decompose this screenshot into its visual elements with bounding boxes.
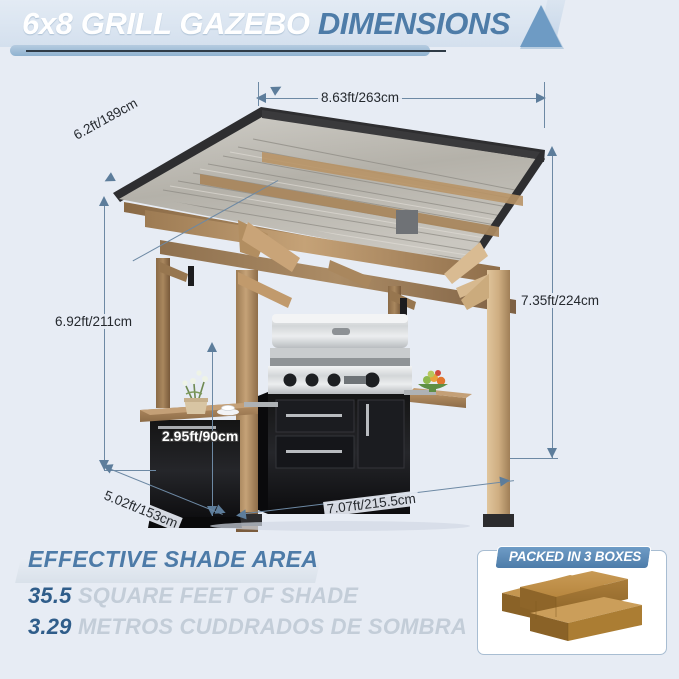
dim-height-right-arrow-bottom: [547, 448, 557, 458]
grill-knob-1[interactable]: [284, 374, 297, 387]
post-back-left: [156, 258, 170, 408]
dim-height-right-arrow-top: [547, 146, 557, 156]
dimension-infographic: 6x8 GRILL GAZEBO DIMENSIONS: [0, 0, 679, 679]
shade-unit-metric: METROS CUDDRADOS DE SOMBRA: [78, 614, 467, 639]
grill-gap: [270, 358, 410, 366]
roof-bracket-plate: [396, 210, 418, 234]
header-triangle-accent: [520, 5, 562, 47]
dim-counter-height-label: 2.95ft/90cm: [162, 429, 238, 444]
title-product: 6x8 GRILL GAZEBO: [22, 6, 310, 41]
counter-rail-left: [244, 402, 278, 407]
dim-roof-width-tick-right: [544, 82, 545, 128]
fruit-bowl: [418, 370, 448, 392]
shade-row-imperial: 35.5 SQUARE FEET OF SHADE: [28, 583, 358, 609]
title-dimensions: DIMENSIONS: [318, 6, 510, 41]
dim-height-left-arrow-top: [99, 196, 109, 206]
grill-island-side: [258, 392, 268, 514]
packed-badge-label: PACKED IN 3 BOXES: [500, 547, 650, 567]
drawer-handle-bottom: [286, 450, 342, 453]
bracket-hardware-left: [188, 266, 194, 286]
gazebo-drawing: 8.63ft/263cm 6.2ft/189cm 7.35ft/224cm 6.…: [0, 62, 679, 532]
header-banner: 6x8 GRILL GAZEBO DIMENSIONS: [0, 0, 679, 62]
cabinet-door-right: [358, 400, 404, 468]
grill-knob-4[interactable]: [365, 373, 380, 388]
shade-title: EFFECTIVE SHADE AREA: [28, 546, 318, 573]
floor-shadow: [210, 521, 470, 531]
header-rule-line: [26, 50, 446, 52]
door-handle-right: [366, 404, 369, 436]
post-front-right-foot: [483, 514, 514, 527]
dim-height-left-label: 6.92ft/211cm: [52, 314, 135, 329]
grill-hood-lip: [270, 348, 410, 358]
dim-base-width-arrow-right: [499, 475, 510, 486]
dim-height-left-line: [104, 198, 105, 470]
dim-roof-width-label: 8.63ft/263cm: [318, 90, 402, 105]
grill-hood-highlight: [272, 314, 408, 323]
page-title: 6x8 GRILL GAZEBO DIMENSIONS: [22, 6, 510, 42]
grill-brand-plate: [344, 376, 366, 384]
dim-roof-width-tick-left: [258, 82, 259, 106]
dim-height-right-tick-bottom: [510, 458, 558, 459]
shade-value-imperial: 35.5: [28, 583, 72, 608]
grill-knob-2[interactable]: [306, 374, 319, 387]
dim-base-width-arrow-left: [235, 509, 246, 520]
shade-value-metric: 3.29: [28, 614, 72, 639]
shade-unit-imperial: SQUARE FEET OF SHADE: [78, 583, 358, 608]
grill-hood-badge: [332, 328, 350, 335]
footer-section: EFFECTIVE SHADE AREA 35.5 SQUARE FEET OF…: [0, 536, 679, 679]
grill-knob-3[interactable]: [328, 374, 341, 387]
shade-row-metric: 3.29 METROS CUDDRADOS DE SOMBRA: [28, 614, 467, 640]
dim-height-right-label: 7.35ft/224cm: [518, 293, 602, 308]
dim-counter-height-arrow-top: [207, 342, 217, 352]
potted-plant: [182, 370, 208, 414]
drawer-handle-top: [286, 414, 342, 417]
